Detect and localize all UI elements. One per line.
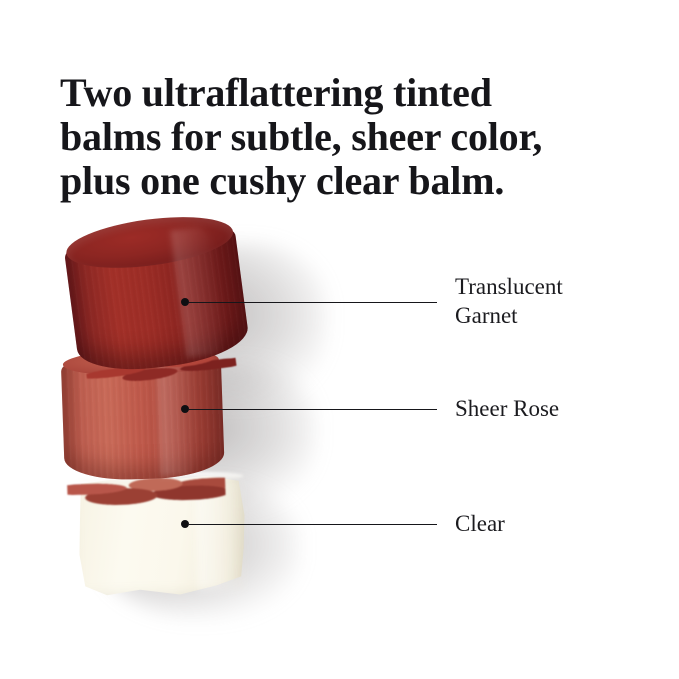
product-photo [55,215,325,615]
callout-label-line-1: Translucent [455,272,563,301]
callout-label-line-1: Sheer Rose [455,394,559,423]
callout-leader-line [189,524,437,525]
callout-label: Sheer Rose [455,394,559,423]
callout-label-line-1: Clear [455,509,505,538]
callout-dot [181,520,189,528]
callout-label: Clear [455,509,505,538]
callout-dot [181,298,189,306]
headline-line-2: balms for subtle, sheer color, [60,115,620,159]
page-title: Two ultraflattering tinted balms for sub… [60,71,620,203]
callout-label: Translucent Garnet [455,272,563,330]
headline-line-3: plus one cushy clear balm. [60,159,620,203]
callout-leader-line [189,302,437,303]
headline-line-1: Two ultraflattering tinted [60,71,620,115]
callout-leader-line [189,409,437,410]
callout-dot [181,405,189,413]
product-callout-graphic: Two ultraflattering tinted balms for sub… [0,0,679,679]
callout-label-line-2: Garnet [455,301,563,330]
swatch-translucent-garnet [62,212,252,383]
